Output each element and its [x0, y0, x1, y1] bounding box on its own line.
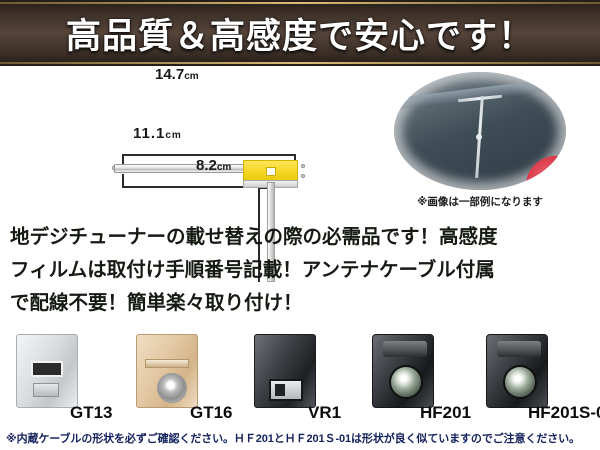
connector-gt16-label: GT16 [190, 403, 233, 423]
dimension-label-element-width: 11.1cm [133, 125, 182, 142]
photo-caption: ※画像は一部例になります [380, 194, 580, 209]
connector-vr1: VR1 [248, 330, 368, 425]
antenna-film-horizontal-arm [114, 164, 259, 173]
dimension-label-total-width: 14.7cm [155, 66, 199, 83]
dimension-unit-drop-height: cm [217, 162, 231, 173]
footer-note: ※内蔵ケーブルの形状を必ずご確認ください。ＨＦ201とＨＦ201Ｓ-01は形状が… [6, 430, 596, 446]
pad-dot-upper [301, 164, 305, 168]
connector-hf201s01-label: HF201S-01 [528, 403, 600, 423]
connector-hf201s01-image [486, 334, 548, 408]
connector-hf201: HF201 [368, 330, 488, 425]
dimension-value-element-width: 11.1 [133, 125, 165, 142]
dimension-unit-element-width: cm [165, 130, 181, 141]
connector-gt16-image [136, 334, 198, 408]
connector-hf201-label: HF201 [420, 403, 471, 423]
dimension-unit-total-width: cm [184, 71, 198, 82]
installed-antenna-node [476, 134, 482, 140]
connector-gt13-label: GT13 [70, 403, 113, 423]
description-line-2: フィルムは取付け手順番号記載！アンテナケーブル付属 [10, 254, 590, 287]
product-info-banner: 高品質＆高感度で安心です！ 14.7cm 11.1cm 8.2cm 40 ※画像… [0, 0, 600, 450]
connector-type-row: GT13 GT16 VR1 HF201 HF201S-01 [0, 330, 600, 425]
dimension-value-drop-height: 8.2 [196, 157, 217, 174]
product-description: 地デジチューナーの載せ替えの際の必需品です！高感度 フィルムは取付け手順番号記載… [10, 221, 590, 320]
description-line-1: 地デジチューナーの載せ替えの際の必需品です！高感度 [10, 221, 590, 254]
installation-photo: 40 ※画像は一部例になります [380, 68, 580, 193]
connector-gt13-image [16, 334, 78, 408]
connector-gt16: GT16 [122, 330, 242, 425]
connector-vr1-label: VR1 [308, 403, 341, 423]
description-line-3: で配線不要！簡単楽々取り付け！ [10, 287, 590, 320]
connector-vr1-image [254, 334, 316, 408]
connector-hf201-image [372, 334, 434, 408]
antenna-film-yellow-pad [243, 160, 298, 182]
red-seal-sticker: 40 [519, 148, 566, 190]
connector-hf201s01: HF201S-01 [482, 330, 600, 425]
windshield-photo-oval: 40 [394, 72, 566, 190]
connector-gt13: GT13 [8, 330, 128, 425]
dimension-label-drop-height: 8.2cm [196, 157, 231, 174]
dimension-value-total-width: 14.7 [155, 66, 184, 83]
banner-header: 高品質＆高感度で安心です！ [0, 0, 600, 66]
dimension-bracket-element-width [122, 174, 252, 188]
header-title: 高品質＆高感度で安心です！ [66, 8, 534, 59]
pad-dot-lower [301, 174, 305, 178]
